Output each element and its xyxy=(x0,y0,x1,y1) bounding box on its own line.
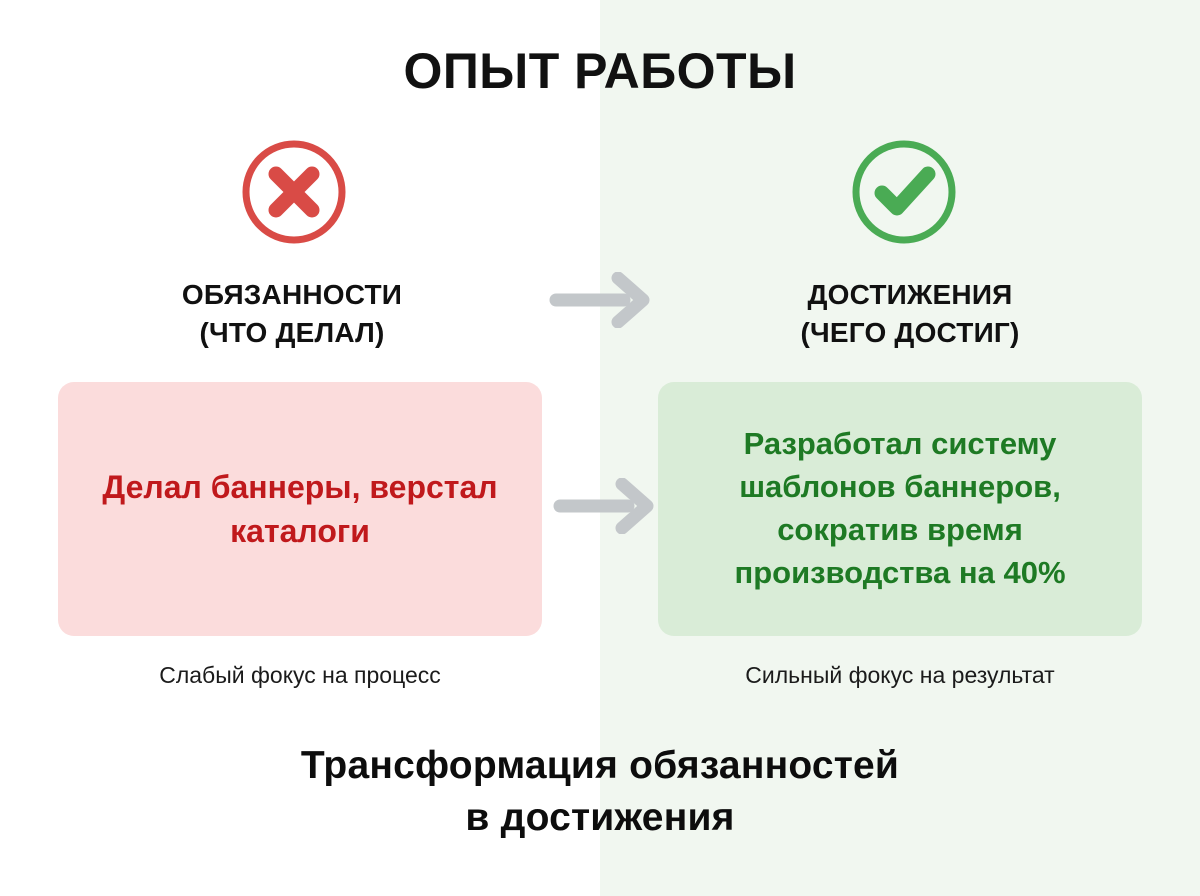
achievements-card-text: Разработал систему шаблонов баннеров, со… xyxy=(680,423,1120,594)
duties-caption: Слабый фокус на процесс xyxy=(30,662,570,689)
arrow-right-icon-top xyxy=(548,272,652,328)
duties-card: Делал баннеры, верстал каталоги xyxy=(58,382,542,636)
arrow-right-icon-middle xyxy=(552,478,656,534)
column-heading-achievements: ДОСТИЖЕНИЯ (ЧЕГО ДОСТИГ) xyxy=(640,276,1180,352)
footer-title: Трансформация обязанностей в достижения xyxy=(0,740,1200,845)
achievements-heading-line1: ДОСТИЖЕНИЯ xyxy=(808,279,1013,310)
column-heading-duties: ОБЯЗАННОСТИ (ЧТО ДЕЛАЛ) xyxy=(22,276,562,352)
infographic-canvas: ОПЫТ РАБОТЫ ОБЯЗАННОСТИ (ЧТО ДЕЛАЛ) ДОСТ… xyxy=(0,0,1200,896)
page-title: ОПЫТ РАБОТЫ xyxy=(0,44,1200,98)
achievements-heading-line2: (ЧЕГО ДОСТИГ) xyxy=(640,314,1180,352)
footer-title-line2: в достижения xyxy=(0,792,1200,844)
check-circle-icon xyxy=(849,137,959,247)
duties-heading-line2: (ЧТО ДЕЛАЛ) xyxy=(22,314,562,352)
cross-circle-icon xyxy=(239,137,349,247)
achievements-caption: Сильный фокус на результат xyxy=(630,662,1170,689)
duties-heading-line1: ОБЯЗАННОСТИ xyxy=(182,279,402,310)
duties-card-text: Делал баннеры, верстал каталоги xyxy=(80,465,520,553)
achievements-card: Разработал систему шаблонов баннеров, со… xyxy=(658,382,1142,636)
footer-title-line1: Трансформация обязанностей xyxy=(301,744,899,787)
